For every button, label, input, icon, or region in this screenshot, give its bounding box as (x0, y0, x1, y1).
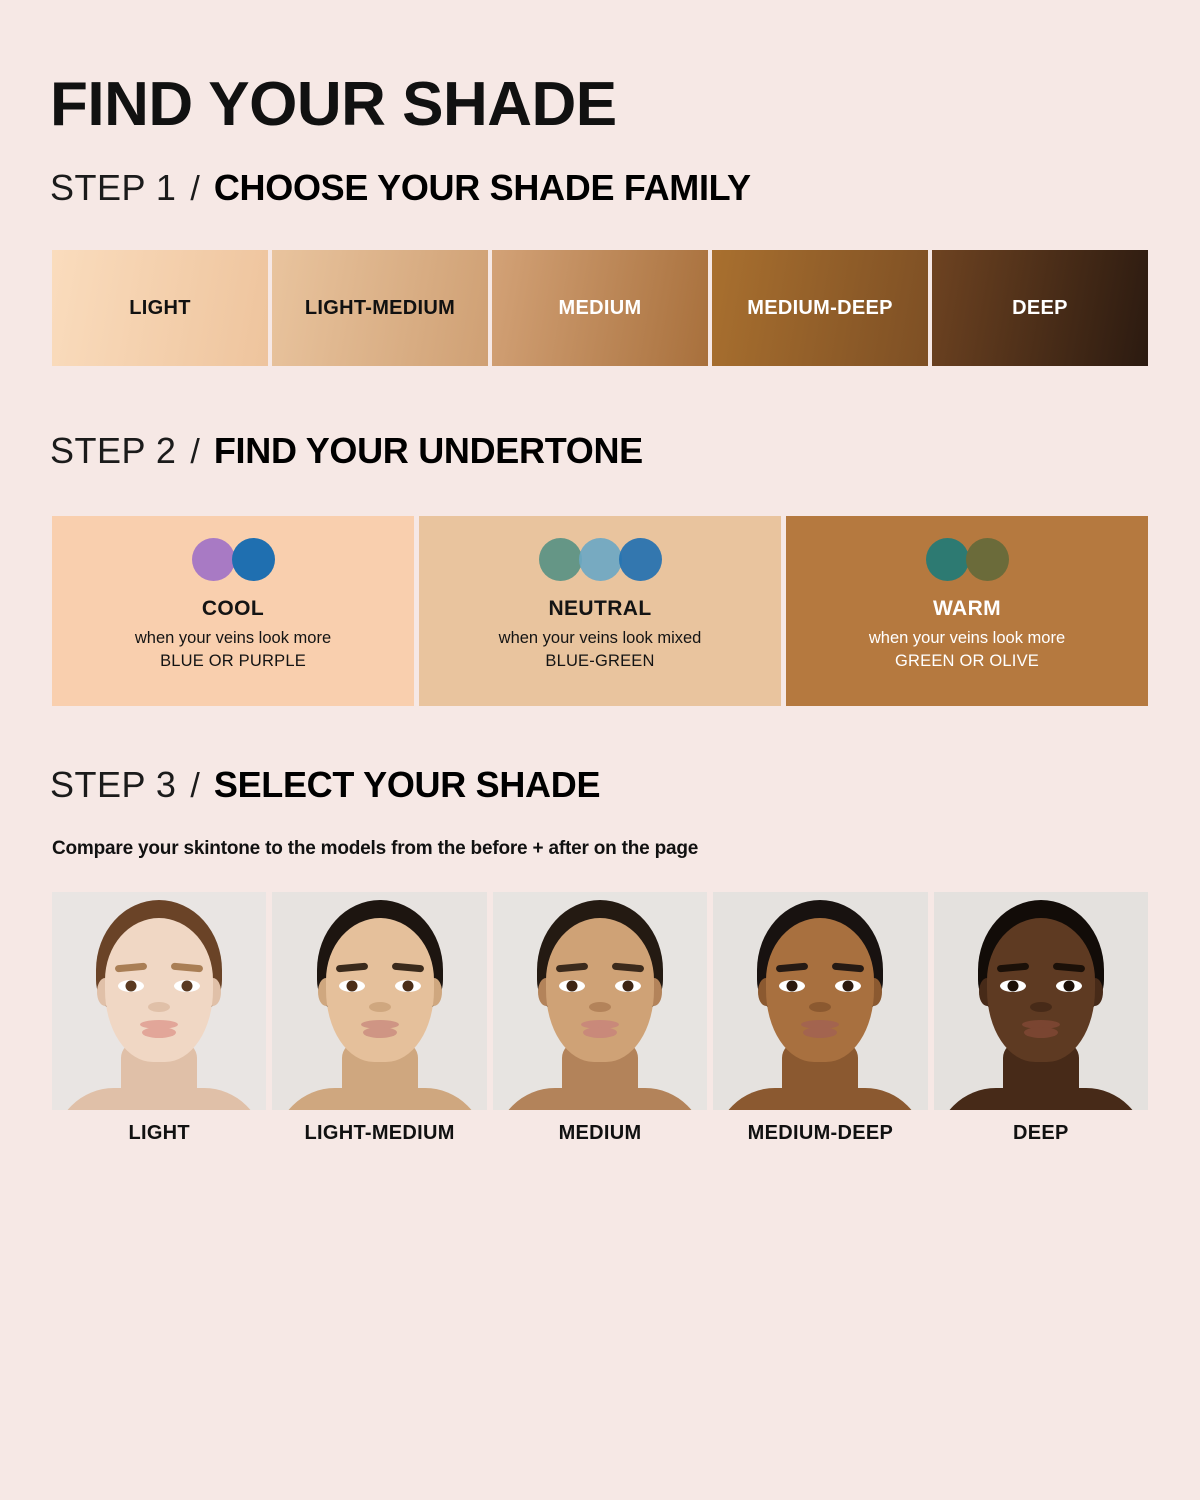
model-portrait (272, 892, 486, 1110)
undertone-row: COOLwhen your veins look moreBLUE OR PUR… (52, 516, 1148, 706)
step-2-separator: / (190, 433, 199, 472)
model-photo-medium-deep[interactable] (713, 892, 927, 1110)
model-nose (809, 1002, 831, 1012)
model-lower-lip (583, 1027, 617, 1038)
model-eye-right (174, 980, 200, 992)
step-1-separator: / (190, 170, 199, 209)
model-photo-deep[interactable] (934, 892, 1148, 1110)
undertone-dot-1-icon (192, 538, 235, 581)
undertone-dot-1-icon (926, 538, 969, 581)
model-label-row: LIGHTLIGHT-MEDIUMMEDIUMMEDIUM-DEEPDEEP (52, 1122, 1148, 1145)
shade-family-swatch-light-medium[interactable]: LIGHT-MEDIUM (272, 250, 488, 366)
undertone-name: NEUTRAL (548, 597, 651, 621)
step-2-number: STEP 2 (50, 430, 176, 472)
model-nose (369, 1002, 391, 1012)
undertone-dot-2-icon (579, 538, 622, 581)
step-3-separator: / (190, 767, 199, 806)
undertone-description-line-1: when your veins look more (869, 629, 1065, 647)
undertone-dot-1-icon (539, 538, 582, 581)
shade-family-swatch-medium-deep[interactable]: MEDIUM-DEEP (712, 250, 928, 366)
shade-family-label: MEDIUM (559, 297, 642, 320)
model-eye-right (1056, 980, 1082, 992)
model-eye-left (1000, 980, 1026, 992)
undertone-card-warm[interactable]: WARMwhen your veins look moreGREEN OR OL… (786, 516, 1148, 706)
model-iris-right (1063, 981, 1074, 992)
model-lower-lip (803, 1027, 837, 1038)
shade-family-swatch-light[interactable]: LIGHT (52, 250, 268, 366)
step-1-number: STEP 1 (50, 167, 176, 209)
undertone-name: COOL (202, 597, 264, 621)
undertone-description: when your veins look mixedBLUE-GREEN (499, 627, 702, 674)
model-iris-right (402, 981, 413, 992)
undertone-dot-2-icon (966, 538, 1009, 581)
model-eye-left (559, 980, 585, 992)
model-iris-left (787, 981, 798, 992)
shade-family-label: DEEP (1012, 297, 1068, 320)
undertone-description: when your veins look moreBLUE OR PURPLE (135, 627, 331, 674)
model-label-deep: DEEP (934, 1122, 1148, 1145)
model-iris-right (182, 981, 193, 992)
step-2-header: STEP 2 / FIND YOUR UNDERTONE (50, 430, 643, 472)
undertone-dots (926, 537, 1009, 581)
model-lower-lip (363, 1027, 397, 1038)
undertone-description-line-1: when your veins look mixed (499, 629, 702, 647)
model-label-light-medium: LIGHT-MEDIUM (272, 1122, 486, 1145)
model-photo-medium[interactable] (493, 892, 707, 1110)
model-photo-light-medium[interactable] (272, 892, 486, 1110)
model-portrait (934, 892, 1148, 1110)
model-portrait (713, 892, 927, 1110)
undertone-card-cool[interactable]: COOLwhen your veins look moreBLUE OR PUR… (52, 516, 414, 706)
model-eye-left (339, 980, 365, 992)
shade-family-swatch-medium[interactable]: MEDIUM (492, 250, 708, 366)
model-eye-left (118, 980, 144, 992)
model-label-medium-deep: MEDIUM-DEEP (713, 1122, 927, 1145)
step-3-subtitle: Compare your skintone to the models from… (52, 838, 698, 860)
undertone-card-neutral[interactable]: NEUTRALwhen your veins look mixedBLUE-GR… (419, 516, 781, 706)
model-nose (148, 1002, 170, 1012)
model-iris-right (623, 981, 634, 992)
page-title: FIND YOUR SHADE (50, 74, 617, 136)
model-lower-lip (1024, 1027, 1058, 1038)
model-label-light: LIGHT (52, 1122, 266, 1145)
undertone-dots (539, 537, 662, 581)
model-eye-right (395, 980, 421, 992)
model-iris-left (346, 981, 357, 992)
model-photo-light[interactable] (52, 892, 266, 1110)
undertone-description-line-1: when your veins look more (135, 629, 331, 647)
step-3-title: SELECT YOUR SHADE (214, 764, 600, 806)
undertone-dots (192, 537, 275, 581)
model-iris-left (126, 981, 137, 992)
shade-family-label: MEDIUM-DEEP (747, 297, 893, 320)
step-2-title: FIND YOUR UNDERTONE (214, 430, 643, 472)
model-iris-left (567, 981, 578, 992)
step-3-number: STEP 3 (50, 764, 176, 806)
undertone-description-line-2: BLUE-GREEN (499, 650, 702, 673)
model-nose (1030, 1002, 1052, 1012)
model-lower-lip (142, 1027, 176, 1038)
shade-family-bar: LIGHTLIGHT-MEDIUMMEDIUMMEDIUM-DEEPDEEP (52, 250, 1148, 366)
model-nose (589, 1002, 611, 1012)
model-label-medium: MEDIUM (493, 1122, 707, 1145)
model-photo-row (52, 892, 1148, 1110)
step-1-header: STEP 1 / CHOOSE YOUR SHADE FAMILY (50, 167, 751, 209)
shade-family-label: LIGHT (129, 297, 191, 320)
shade-family-swatch-deep[interactable]: DEEP (932, 250, 1148, 366)
model-portrait (52, 892, 266, 1110)
shade-family-label: LIGHT-MEDIUM (305, 297, 455, 320)
model-iris-left (1007, 981, 1018, 992)
step-3-header: STEP 3 / SELECT YOUR SHADE (50, 764, 600, 806)
undertone-name: WARM (933, 597, 1001, 621)
model-eye-right (615, 980, 641, 992)
step-1-title: CHOOSE YOUR SHADE FAMILY (214, 167, 751, 209)
undertone-description-line-2: GREEN OR OLIVE (869, 650, 1065, 673)
model-iris-right (843, 981, 854, 992)
undertone-description-line-2: BLUE OR PURPLE (135, 650, 331, 673)
undertone-description: when your veins look moreGREEN OR OLIVE (869, 627, 1065, 674)
undertone-dot-3-icon (619, 538, 662, 581)
model-portrait (493, 892, 707, 1110)
undertone-dot-2-icon (232, 538, 275, 581)
